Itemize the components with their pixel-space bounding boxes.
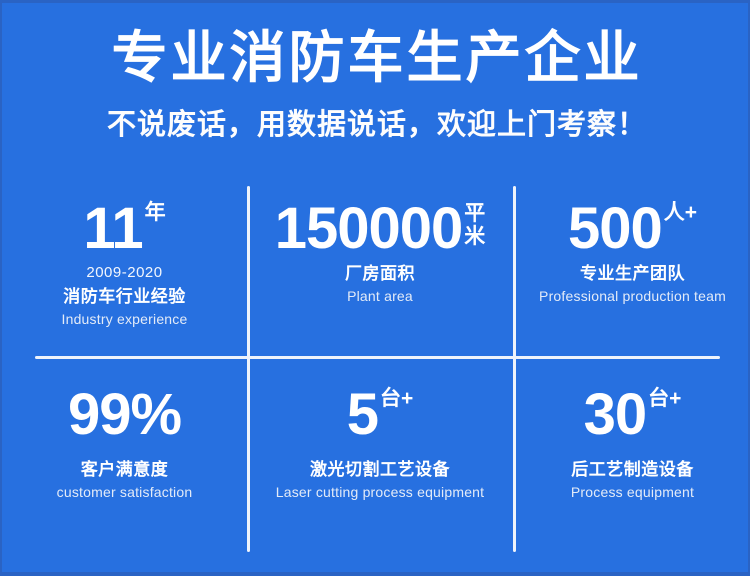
stat-suffix: 平 米 (464, 199, 485, 248)
stat-number: 150000 (275, 199, 463, 259)
stat-label-en: Laser cutting process equipment (276, 483, 485, 502)
stat-number: 99% (68, 385, 181, 445)
promo-poster: 专业消防车生产企业 不说废话，用数据说话，欢迎上门考察！ 11 年 2009-2… (0, 0, 750, 576)
stat-label-en: customer satisfaction (57, 483, 193, 502)
stat-number: 5 (347, 385, 378, 445)
stat-number: 500 (568, 199, 662, 259)
stat-label-en: Process equipment (571, 483, 694, 502)
stat-year-range: 2009-2020 (86, 264, 162, 282)
stat-suffix: 台+ (380, 385, 413, 410)
stat-suffix-line: 米 (464, 225, 485, 248)
stat-label-cn: 专业生产团队 (580, 263, 685, 285)
stat-suffix-line: 台+ (648, 388, 681, 410)
stat-cell-laser-cutting-equipment: 5 台+ 激光切割工艺设备 Laser cutting process equi… (247, 357, 513, 552)
stat-label-cn: 客户满意度 (81, 459, 169, 481)
stat-label-cn: 厂房面积 (345, 263, 415, 285)
stat-suffix: 人+ (664, 199, 697, 224)
stat-suffix: 台+ (648, 385, 681, 410)
stat-label-en: Industry experience (62, 310, 188, 329)
poster-header: 专业消防车生产企业 不说废话，用数据说话，欢迎上门考察！ (2, 25, 750, 143)
stat-number: 30 (584, 385, 647, 445)
stat-number-row: 500 人+ (568, 199, 697, 259)
stat-number-row: 30 台+ (584, 385, 682, 445)
stat-label-cn: 后工艺制造设备 (571, 459, 694, 481)
stat-cell-process-equipment: 30 台+ 后工艺制造设备 Process equipment (513, 357, 750, 552)
stat-suffix-line: 平 (464, 202, 485, 225)
stats-grid: 11 年 2009-2020 消防车行业经验 Industry experien… (2, 186, 750, 552)
stat-number-row: 5 台+ (347, 385, 414, 445)
stat-suffix-line: 台+ (380, 388, 413, 410)
stat-cell-production-team: 500 人+ 专业生产团队 Professional production te… (513, 186, 750, 357)
stat-label-en: Professional production team (539, 287, 726, 306)
stat-label-en: Plant area (347, 287, 413, 306)
stat-label-cn: 激光切割工艺设备 (310, 459, 450, 481)
page-subtitle: 不说废话，用数据说话，欢迎上门考察！ (2, 107, 750, 143)
stat-number-row: 99% (68, 385, 181, 445)
page-title: 专业消防车生产企业 (2, 25, 750, 91)
stat-cell-industry-experience: 11 年 2009-2020 消防车行业经验 Industry experien… (2, 186, 247, 357)
stat-suffix: 年 (145, 199, 166, 224)
stat-number: 11 (83, 199, 142, 259)
stat-suffix-line: 人+ (664, 202, 697, 224)
stat-cell-plant-area: 150000 平 米 厂房面积 Plant area (247, 186, 513, 357)
stat-cell-customer-satisfaction: 99% 客户满意度 customer satisfaction (2, 357, 247, 552)
stat-label-cn: 消防车行业经验 (63, 286, 186, 308)
stat-number-row: 150000 平 米 (275, 199, 486, 259)
stat-number-row: 11 年 (83, 199, 165, 259)
stat-suffix-line: 年 (145, 202, 166, 224)
